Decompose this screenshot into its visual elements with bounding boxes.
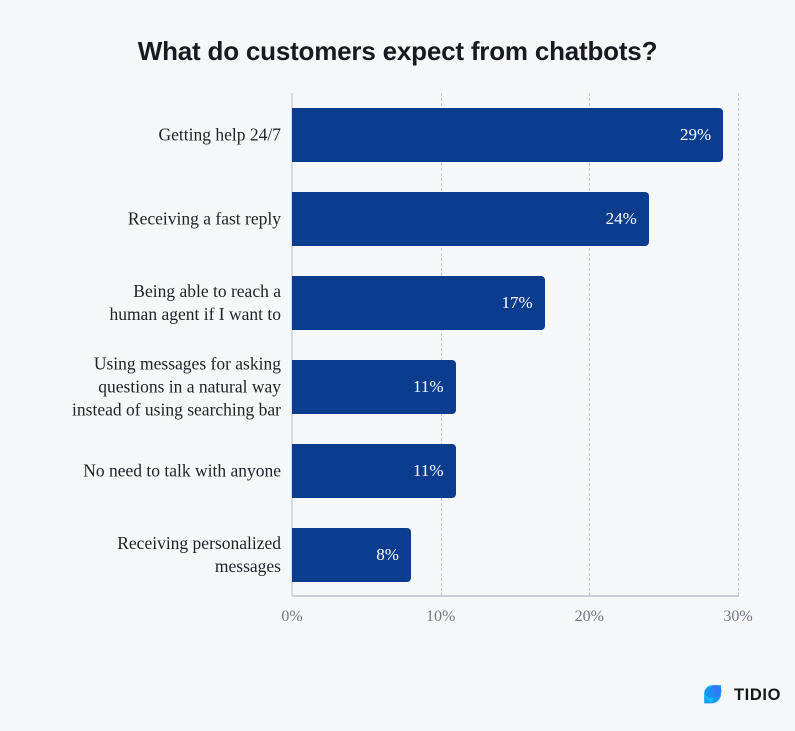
category-label: Being able to reach ahuman agent if I wa… xyxy=(0,280,281,326)
bar-chart-plot-area: Getting help 24/729%Receiving a fast rep… xyxy=(0,0,795,731)
bar-value-label: 8% xyxy=(376,545,399,565)
bar: 17% xyxy=(292,276,545,330)
category-label: Using messages for askingquestions in a … xyxy=(0,353,281,422)
chart-row: Receiving personalizedmessages8% xyxy=(0,513,795,597)
tidio-brand-logo: TIDIO xyxy=(701,682,781,708)
bar: 8% xyxy=(292,528,411,582)
chart-row: Receiving a fast reply24% xyxy=(0,177,795,261)
bar: 11% xyxy=(292,444,456,498)
category-label: Getting help 24/7 xyxy=(0,124,281,147)
bar: 29% xyxy=(292,108,723,162)
bar: 24% xyxy=(292,192,649,246)
chart-row: Using messages for askingquestions in a … xyxy=(0,345,795,429)
bar-value-label: 24% xyxy=(606,209,637,229)
category-label: Receiving a fast reply xyxy=(0,208,281,231)
x-tick-label: 0% xyxy=(252,608,332,626)
category-label: Receiving personalizedmessages xyxy=(0,532,281,578)
chart-row: Being able to reach ahuman agent if I wa… xyxy=(0,261,795,345)
x-tick-label: 20% xyxy=(549,608,629,626)
brand-name-label: TIDIO xyxy=(734,687,781,704)
bar-value-label: 11% xyxy=(413,461,444,481)
chatbot-expectations-infographic: What do customers expect from chatbots? … xyxy=(0,0,795,731)
bar-value-label: 17% xyxy=(502,293,533,313)
chart-row: No need to talk with anyone11% xyxy=(0,429,795,513)
bar: 11% xyxy=(292,360,456,414)
bar-value-label: 11% xyxy=(413,377,444,397)
chart-row: Getting help 24/729% xyxy=(0,93,795,177)
tidio-chat-bubble-icon xyxy=(701,682,727,708)
x-tick-label: 30% xyxy=(698,608,778,626)
bar-value-label: 29% xyxy=(680,125,711,145)
x-tick-label: 10% xyxy=(401,608,481,626)
category-label: No need to talk with anyone xyxy=(0,460,281,483)
